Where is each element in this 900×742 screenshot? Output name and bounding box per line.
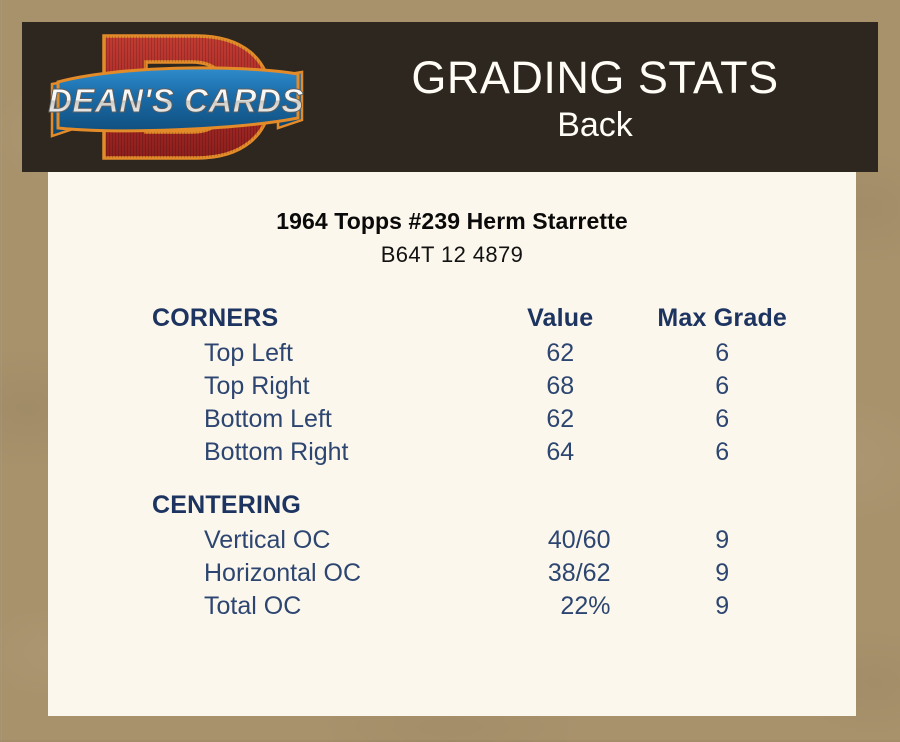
page-title: GRADING STATS bbox=[411, 54, 778, 101]
row-value: 62 bbox=[476, 403, 644, 436]
grading-stats-table: CORNERS Value Max Grade Top Left 62 6 To… bbox=[152, 300, 800, 623]
table-row: Total OC 22% 9 bbox=[152, 590, 800, 623]
content-panel: 1964 Topps #239 Herm Starrette B64T 12 4… bbox=[48, 172, 856, 716]
row-value: 40/60 bbox=[476, 524, 644, 557]
card-code: B64T 12 4879 bbox=[48, 242, 856, 268]
row-max-grade: 9 bbox=[644, 557, 800, 590]
row-label: Bottom Right bbox=[152, 436, 476, 469]
row-label: Top Left bbox=[152, 337, 476, 370]
row-value: 38/62 bbox=[476, 557, 644, 590]
row-label: Total OC bbox=[152, 590, 476, 623]
row-max-grade: 6 bbox=[644, 403, 800, 436]
row-max-grade: 6 bbox=[644, 370, 800, 403]
table-row: Bottom Left 62 6 bbox=[152, 403, 800, 436]
row-label: Bottom Left bbox=[152, 403, 476, 436]
row-value: 68 bbox=[476, 370, 644, 403]
table-row: Vertical OC 40/60 9 bbox=[152, 524, 800, 557]
row-max-grade: 6 bbox=[644, 337, 800, 370]
column-header-value: Value bbox=[476, 300, 644, 337]
grading-stats-section: CORNERS Value Max Grade Top Left 62 6 To… bbox=[48, 300, 856, 623]
row-value: 22% bbox=[476, 590, 644, 623]
table-row: Bottom Right 64 6 bbox=[152, 436, 800, 469]
card-title: 1964 Topps #239 Herm Starrette bbox=[48, 208, 856, 235]
table-header-row-corners: CORNERS Value Max Grade bbox=[152, 300, 800, 337]
row-max-grade: 9 bbox=[644, 590, 800, 623]
section-spacer bbox=[152, 469, 800, 487]
header-title-group: GRADING STATS Back bbox=[322, 22, 868, 172]
row-max-grade: 6 bbox=[644, 436, 800, 469]
row-label: Top Right bbox=[152, 370, 476, 403]
section-title-corners: CORNERS bbox=[152, 300, 476, 337]
section-title-centering: CENTERING bbox=[152, 487, 476, 524]
header-bar: DEAN'S CARDS GRADING STATS Back bbox=[22, 22, 878, 172]
table-header-row-centering: CENTERING bbox=[152, 487, 800, 524]
table-row: Horizontal OC 38/62 9 bbox=[152, 557, 800, 590]
logo-artwork: DEAN'S CARDS bbox=[46, 24, 308, 170]
deans-cards-logo[interactable]: DEAN'S CARDS bbox=[46, 24, 308, 170]
page-subtitle: Back bbox=[557, 104, 633, 147]
row-label: Vertical OC bbox=[152, 524, 476, 557]
row-value: 62 bbox=[476, 337, 644, 370]
table-row: Top Right 68 6 bbox=[152, 370, 800, 403]
logo-wordmark: DEAN'S CARDS bbox=[48, 82, 304, 119]
row-value: 64 bbox=[476, 436, 644, 469]
row-max-grade: 9 bbox=[644, 524, 800, 557]
column-header-max-grade: Max Grade bbox=[644, 300, 800, 337]
table-row: Top Left 62 6 bbox=[152, 337, 800, 370]
row-label: Horizontal OC bbox=[152, 557, 476, 590]
